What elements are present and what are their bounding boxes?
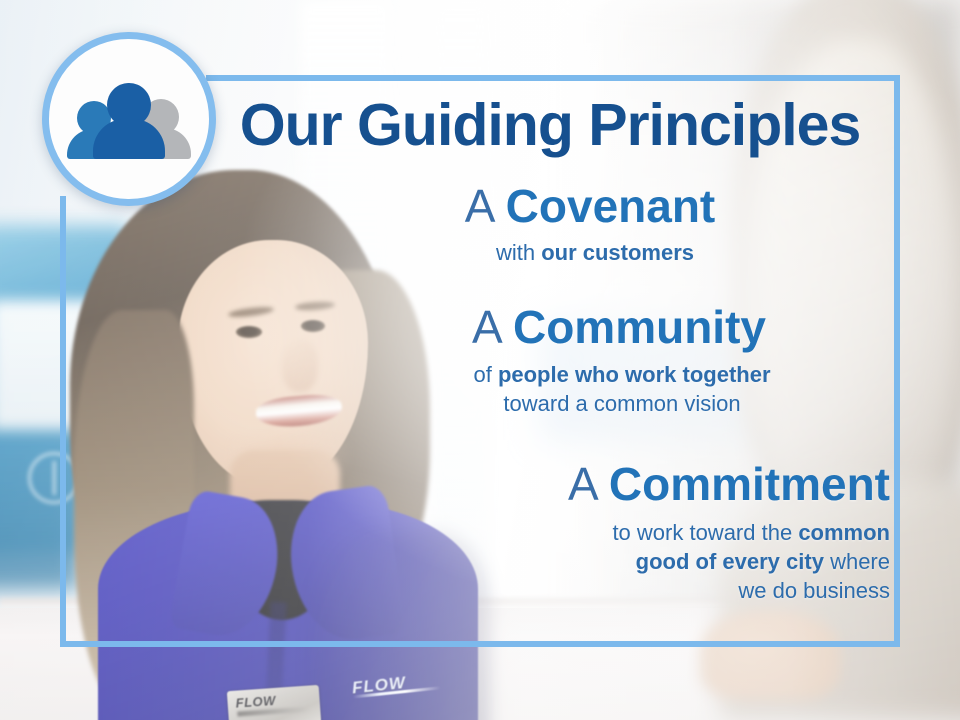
subtitle-emphasis: people who work together xyxy=(498,362,771,387)
subtitle-emphasis: good of every city xyxy=(636,549,824,574)
people-badge xyxy=(42,32,216,206)
subtitle-text: toward a common vision xyxy=(503,391,740,416)
principles-list: A Covenant with our customers A Communit… xyxy=(300,182,890,611)
subtitle-text: with xyxy=(496,240,541,265)
principle-title: A Commitment xyxy=(300,460,890,510)
principle-covenant: A Covenant with our customers xyxy=(300,182,890,267)
subtitle-line: of people who work together xyxy=(354,360,890,389)
principle-subtitle: of people who work togethertoward a comm… xyxy=(354,360,890,418)
page-title: Our Guiding Principles xyxy=(212,96,888,155)
subtitle-text: to work toward the xyxy=(612,520,798,545)
subtitle-emphasis: common xyxy=(798,520,890,545)
principle-subtitle: to work toward the commongood of every c… xyxy=(300,518,890,605)
principle-commitment: A Commitment to work toward the commongo… xyxy=(300,460,890,605)
principle-word: Commitment xyxy=(609,458,890,510)
subtitle-line: we do business xyxy=(300,576,890,605)
guiding-principles-graphic: FLOW FLOW xyxy=(0,0,960,720)
subtitle-line: to work toward the common xyxy=(300,518,890,547)
subtitle-line: toward a common vision xyxy=(354,389,890,418)
subtitle-emphasis: our customers xyxy=(541,240,694,265)
principle-subtitle: with our customers xyxy=(300,238,890,267)
principle-article: A xyxy=(472,301,500,353)
people-group-icon xyxy=(71,81,187,157)
principle-word: Community xyxy=(513,301,766,353)
principle-title: A Covenant xyxy=(290,182,890,232)
name-badge: FLOW xyxy=(227,685,321,720)
blurred-customer-hand xyxy=(700,610,840,700)
principle-article: A xyxy=(465,180,493,232)
subtitle-text: we do business xyxy=(738,578,890,603)
principle-title: A Community xyxy=(348,303,890,353)
subtitle-text: where xyxy=(824,549,890,574)
name-badge-brand: FLOW xyxy=(235,693,276,711)
principle-word: Covenant xyxy=(506,180,716,232)
principle-article: A xyxy=(568,458,596,510)
subtitle-line: with our customers xyxy=(300,238,890,267)
principle-community: A Community of people who work togethert… xyxy=(300,303,890,419)
subtitle-line: good of every city where xyxy=(300,547,890,576)
subtitle-text: of xyxy=(473,362,497,387)
woman-eye-left xyxy=(236,326,262,338)
